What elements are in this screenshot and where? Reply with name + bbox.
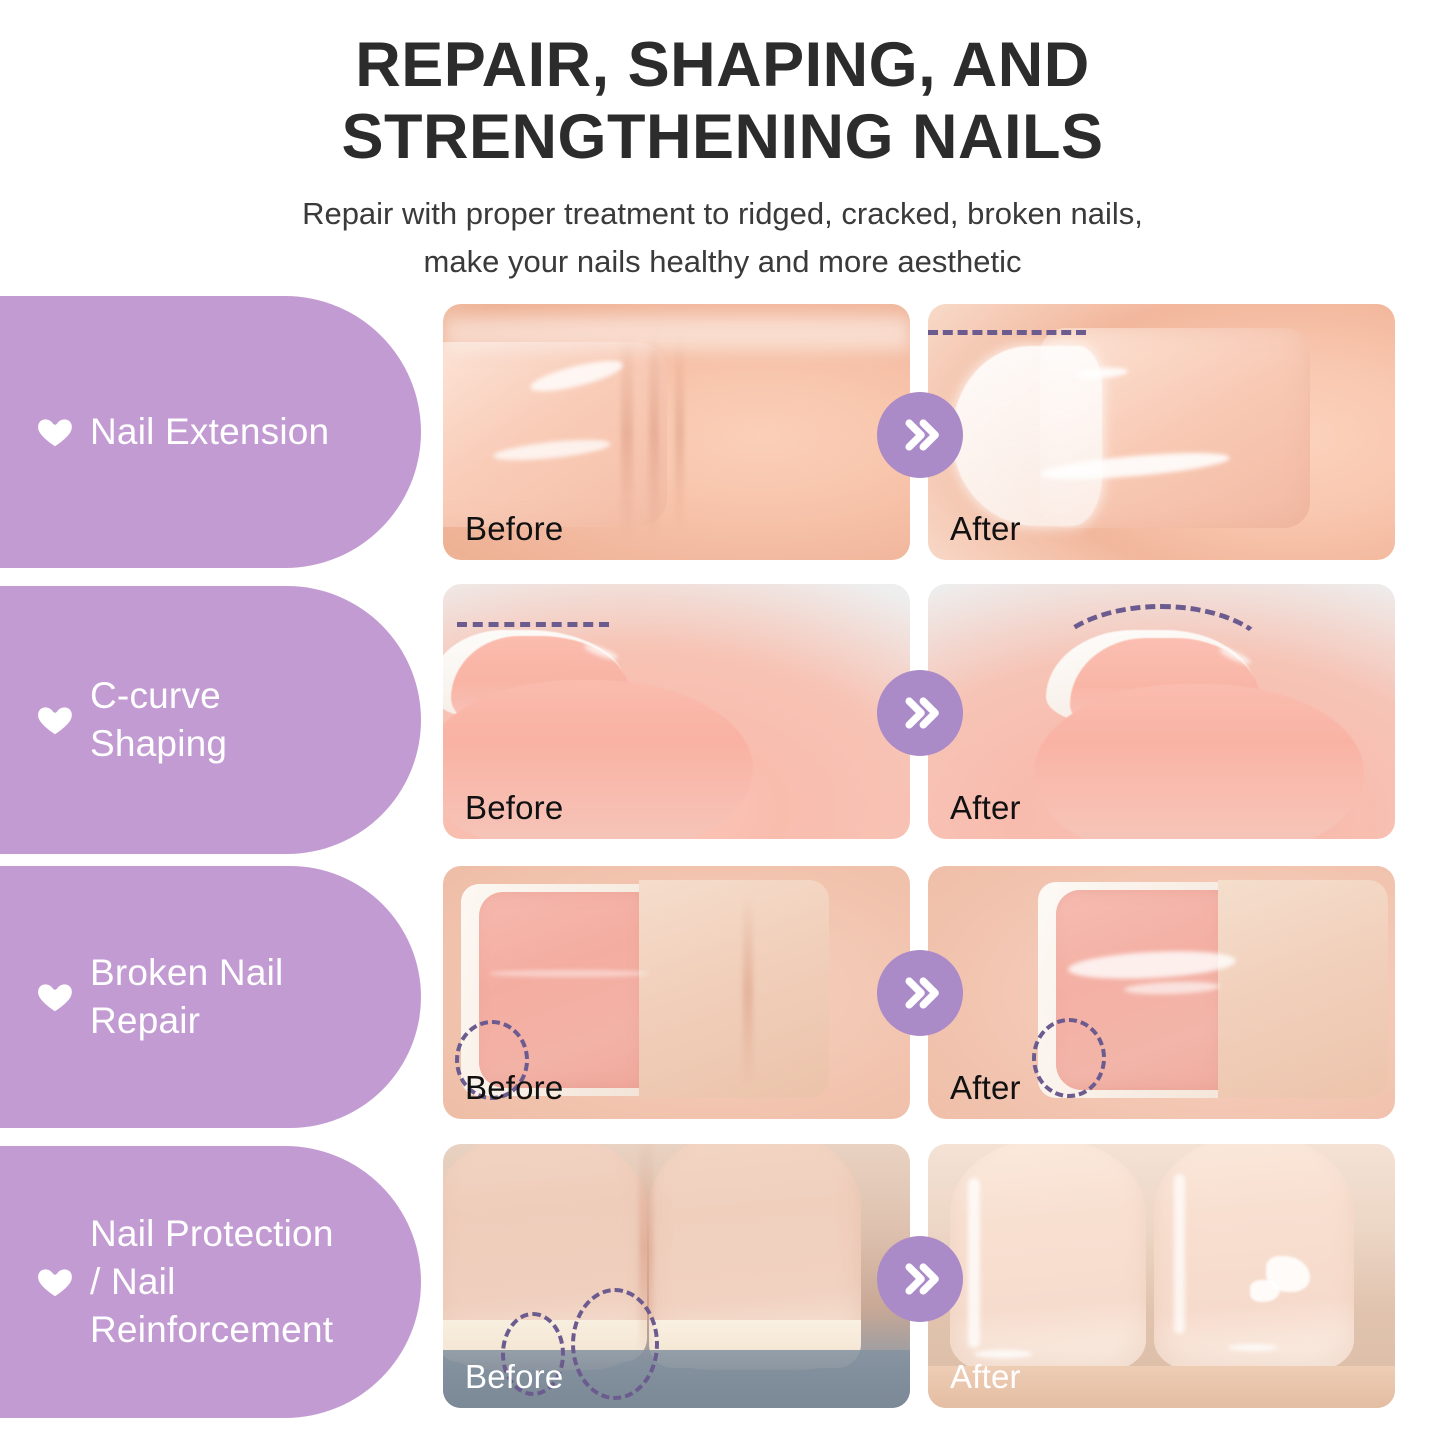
- dashed-arc-guideline: [1046, 604, 1276, 724]
- double-chevron-right-icon: [894, 409, 946, 461]
- after-photo-panel: After: [928, 866, 1395, 1119]
- feature-rows: Nail Extension Before: [0, 296, 1445, 1434]
- page-header: REPAIR, SHAPING, AND STRENGTHENING NAILS…: [0, 0, 1445, 286]
- double-chevron-right-icon: [894, 967, 946, 1019]
- feature-pill-nail-extension[interactable]: Nail Extension: [0, 296, 421, 568]
- page-subtitle-line-1: Repair with proper treatment to ridged, …: [0, 190, 1445, 238]
- transition-arrow-badge: [877, 1236, 963, 1322]
- feature-pill-label: Broken Nail Repair: [90, 949, 283, 1045]
- before-label: Before: [465, 510, 563, 548]
- feature-row-broken-nail-repair: Broken Nail Repair Before: [0, 866, 1445, 1144]
- dashed-highlight-peeling-right: [571, 1288, 659, 1400]
- after-photo-panel: After: [928, 304, 1395, 560]
- after-label: After: [950, 1069, 1021, 1107]
- after-label: After: [950, 510, 1021, 548]
- page-title-line-1: REPAIR, SHAPING, AND: [0, 30, 1445, 102]
- before-label: Before: [465, 789, 563, 827]
- feature-row-nail-extension: Nail Extension Before: [0, 296, 1445, 584]
- heart-icon: [36, 701, 74, 739]
- page-title: REPAIR, SHAPING, AND STRENGTHENING NAILS: [0, 0, 1445, 174]
- feature-pill-broken-nail-repair[interactable]: Broken Nail Repair: [0, 866, 421, 1128]
- feature-row-c-curve-shaping: C-curve Shaping Before: [0, 584, 1445, 866]
- before-photo-panel: Before: [443, 1144, 910, 1408]
- heart-icon: [36, 413, 74, 451]
- feature-pill-c-curve-shaping[interactable]: C-curve Shaping: [0, 586, 421, 854]
- double-chevron-right-icon: [894, 687, 946, 739]
- after-label: After: [950, 1358, 1021, 1396]
- page-subtitle-line-2: make your nails healthy and more aesthet…: [0, 238, 1445, 286]
- feature-pill-nail-protection[interactable]: Nail Protection / Nail Reinforcement: [0, 1146, 421, 1418]
- after-photo-panel: After: [928, 1144, 1395, 1408]
- infographic-page: REPAIR, SHAPING, AND STRENGTHENING NAILS…: [0, 0, 1445, 1445]
- before-photo-panel: Before: [443, 304, 910, 560]
- dashed-flat-guideline: [457, 622, 609, 627]
- after-label: After: [950, 789, 1021, 827]
- page-title-line-2: STRENGTHENING NAILS: [0, 102, 1445, 174]
- heart-icon: [36, 978, 74, 1016]
- dashed-highlight-repaired: [1032, 1018, 1106, 1098]
- transition-arrow-badge: [877, 950, 963, 1036]
- feature-pill-label: C-curve Shaping: [90, 672, 227, 768]
- transition-arrow-badge: [877, 392, 963, 478]
- before-label: Before: [465, 1358, 563, 1396]
- dashed-guideline-after: [928, 330, 1086, 335]
- page-subtitle: Repair with proper treatment to ridged, …: [0, 174, 1445, 286]
- before-label: Before: [465, 1069, 563, 1107]
- heart-icon: [36, 1263, 74, 1301]
- transition-arrow-badge: [877, 670, 963, 756]
- after-photo-panel: After: [928, 584, 1395, 839]
- double-chevron-right-icon: [894, 1253, 946, 1305]
- before-photo-panel: Before: [443, 866, 910, 1119]
- feature-row-nail-protection: Nail Protection / Nail Reinforcement Bef: [0, 1144, 1445, 1434]
- before-photo-panel: Before: [443, 584, 910, 839]
- feature-pill-label: Nail Extension: [90, 408, 329, 456]
- feature-pill-label: Nail Protection / Nail Reinforcement: [90, 1210, 334, 1354]
